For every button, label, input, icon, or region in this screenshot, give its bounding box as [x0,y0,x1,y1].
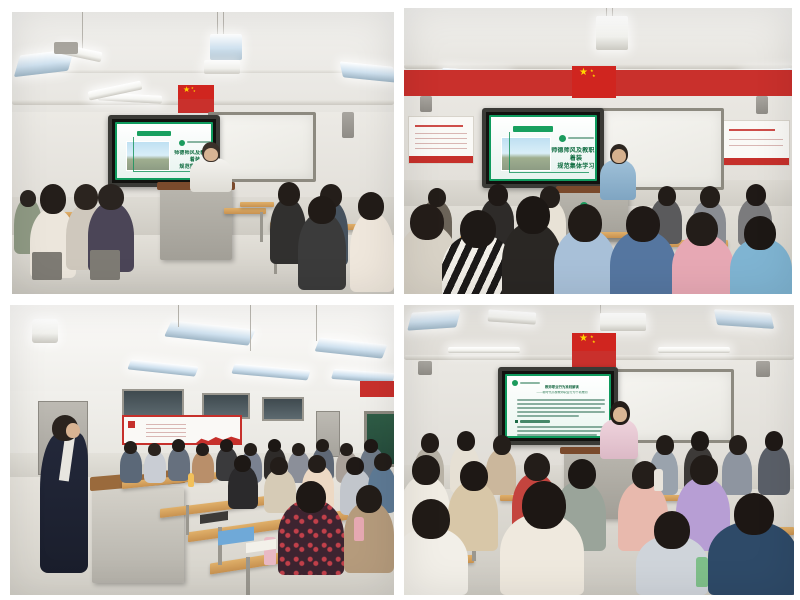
attendee-head [356,485,382,513]
water-bottle [654,469,663,491]
photo-panel-bottom-right: ★ ★ ★ 教师职业行为准则解读 ——新时代高校教师职业行为十项准则 [404,305,794,595]
ceiling-light [658,347,730,353]
slide-logo-icon [559,135,566,142]
presentation-screen: 师德师风及教职工着装 规范集体学习 [482,108,604,188]
attendee-head [340,443,353,456]
attendee-head [568,204,602,242]
attendee-head [358,192,384,220]
attendee-head [316,439,329,452]
attendee-head [658,186,676,206]
attendee-head [278,182,300,206]
attendee-head [292,443,305,456]
chinese-flag: ★ ★ ★ [572,66,616,98]
attendee-head [691,431,709,451]
notice-board-right [722,120,790,166]
attendee-head [457,431,475,451]
attendee-head [421,433,439,453]
attendee-head [410,204,444,240]
slide-surface: 师德师风及教职工着装 规范集体学习 [489,115,597,181]
attendee-head [270,457,288,475]
slide-logo-icon [512,380,518,386]
attendee-head [412,499,450,539]
attendee-head [729,435,747,455]
attendee-head [516,196,550,234]
podium [92,487,184,583]
attendee-head [488,184,508,206]
attendee [350,212,394,292]
attendee-head [374,453,392,471]
attendee-head [234,455,251,472]
attendee-head [412,455,440,485]
attendee-head [744,216,776,250]
ceiling-projector [54,42,78,54]
attendee-head [124,441,137,454]
presenter-face [204,148,218,161]
attendee-head [98,184,124,210]
water-bottle [188,473,194,487]
photo-panel-top-left: ★ ★ ★ 师德师风及教职工着装 规范集体学习 [12,12,394,294]
attendee [168,447,190,481]
slide-logo-icon [179,140,185,146]
attendee-head [686,212,718,246]
presenter-body [600,419,638,459]
attendee-head [40,184,66,214]
slide-subtitle: ——新时代高校教师职业行为十项准则 [525,391,599,395]
attendee-head [522,481,566,529]
attendee-head [172,439,185,452]
presenter-face [612,149,626,163]
presenter-body [190,158,232,192]
ceiling-light [448,347,520,353]
photo-panel-bottom-left [10,305,394,595]
ceiling-light [210,34,242,60]
chinese-flag: ★ ★ ★ [572,333,616,351]
attendee-head [220,439,233,452]
presenter-face [613,407,627,422]
attendee-head [364,439,378,453]
attendee-head [308,196,336,224]
attendee-head [734,493,774,535]
slide-surface: 教师职业行为准则解读 ——新时代高校教师职业行为十项准则 [505,374,611,438]
attendee-head [196,443,209,456]
water-bottle [696,557,708,587]
attendee-head [460,461,488,491]
slide-tab [137,131,171,136]
water-bottle [354,517,364,541]
attendee-head [346,457,364,475]
ceiling-light [32,319,58,343]
attendee [120,449,142,483]
slide-tab [513,126,553,132]
attendee-head [296,481,326,513]
attendee [486,449,516,495]
attendee-head [460,210,496,248]
attendee-head [746,184,766,206]
interior-window [262,397,304,421]
attendee-head [568,459,596,489]
attendee-head [493,435,511,455]
attendee-head [700,186,720,208]
attendee-head [308,455,326,473]
attendee-head [626,206,660,242]
ceiling-light [596,16,628,50]
presenter-face [66,423,80,438]
ceiling-light [600,313,646,331]
slide-title: 教师职业行为准则解读 [531,385,593,389]
attendee-head [656,435,674,455]
attendee-head [765,431,783,451]
attendee-head [244,443,257,456]
attendee [722,449,752,495]
attendee-head [74,184,98,210]
photo-panel-top-right: ★ ★ ★ [404,8,792,294]
chinese-flag: ★ ★ ★ [178,85,214,99]
attendee-head [20,190,36,207]
presenter-body [600,160,636,200]
attendee [758,445,790,495]
attendee-head [148,443,161,456]
photo-collage: ★ ★ ★ 师德师风及教职工着装 规范集体学习 [0,0,800,600]
notice-board-left [408,116,474,164]
podium [160,186,232,260]
ceiling-light [204,60,240,74]
ceiling-light [407,309,461,330]
attendee-head [690,455,718,485]
attendee-head [268,439,281,452]
attendee-head [654,511,690,549]
attendee-head [524,453,550,481]
slide-title: 师德师风及教职工着装 规范集体学习 [551,147,597,171]
